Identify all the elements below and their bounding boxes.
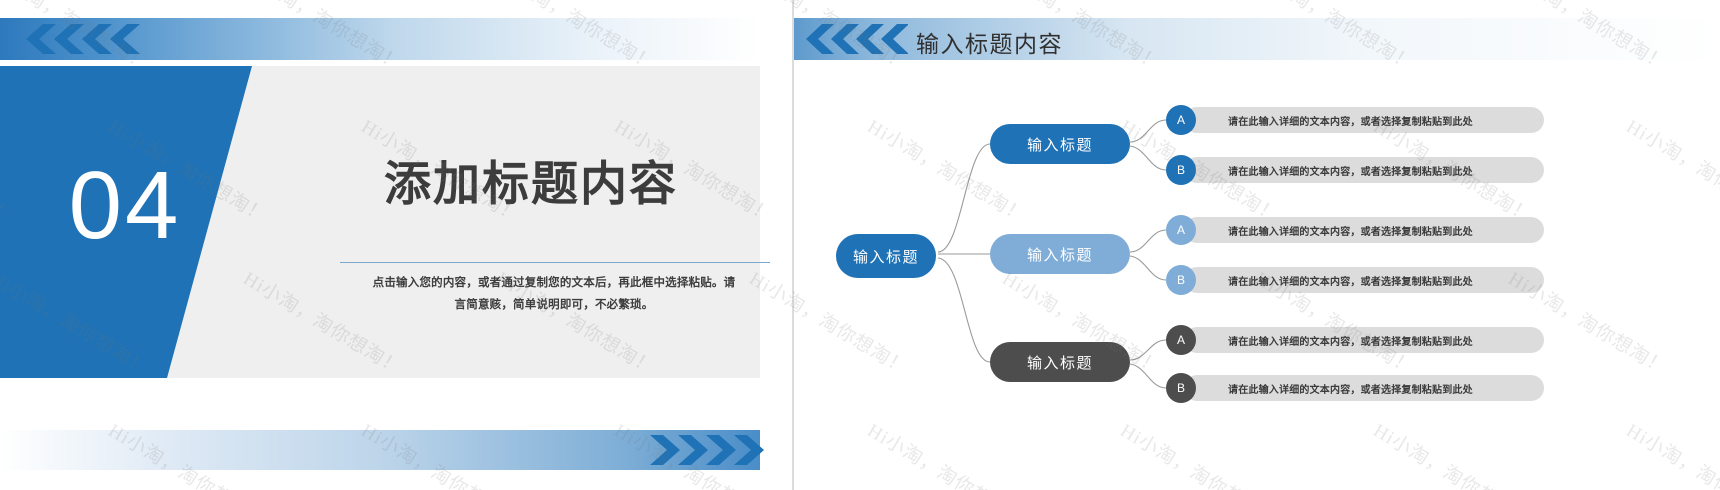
mindmap-branch-node-1[interactable]: 输入标题	[990, 124, 1130, 164]
item-text: 请在此输入详细的文本内容，或者选择复制粘贴到此处	[1228, 163, 1473, 178]
item-pill: 请在此输入详细的文本内容，或者选择复制粘贴到此处	[1184, 267, 1544, 293]
item-text: 请在此输入详细的文本内容，或者选择复制粘贴到此处	[1228, 223, 1473, 238]
mindmap-branch-label: 输入标题	[1027, 244, 1093, 265]
section-number: 04	[22, 158, 228, 254]
item-pill: 请在此输入详细的文本内容，或者选择复制粘贴到此处	[1184, 217, 1544, 243]
mindmap-root-node[interactable]: 输入标题	[836, 234, 936, 278]
item-badge: B	[1166, 373, 1196, 403]
item-pill: 请在此输入详细的文本内容，或者选择复制粘贴到此处	[1184, 107, 1544, 133]
item-badge: B	[1166, 265, 1196, 295]
mindmap-canvas: 输入标题 输入标题 输入标题 输入标题 请在此输入详细的文本内容，或者选择复制粘…	[794, 62, 1720, 490]
item-text: 请在此输入详细的文本内容，或者选择复制粘贴到此处	[1228, 381, 1473, 396]
presentation-slides-preview: 04 添加标题内容 点击输入您的内容，或者通过复制您的文本后，再此框中选择粘贴。…	[0, 0, 1720, 490]
item-text: 请在此输入详细的文本内容，或者选择复制粘贴到此处	[1228, 273, 1473, 288]
slide-mindmap: 输入标题内容	[794, 0, 1720, 490]
page-title: 添加标题内容	[296, 158, 766, 210]
description-line-2: 言简意赅，简单说明即可，不必繁琐。	[328, 294, 780, 316]
item-pill: 请在此输入详细的文本内容，或者选择复制粘贴到此处	[1184, 327, 1544, 353]
description-line-1: 点击输入您的内容，或者通过复制您的文本后，再此框中选择粘贴。请	[328, 272, 780, 294]
mindmap-branch-node-2[interactable]: 输入标题	[990, 234, 1130, 274]
chevron-left-quad-icon	[806, 24, 908, 54]
mindmap-branch-label: 输入标题	[1027, 134, 1093, 155]
chevron-right-quad-icon	[650, 435, 764, 465]
item-badge: A	[1166, 325, 1196, 355]
slide-divider	[792, 0, 794, 490]
title-divider-rule	[340, 262, 770, 263]
item-badge: B	[1166, 155, 1196, 185]
bottom-gradient-bar	[0, 430, 760, 470]
mindmap-branch-label: 输入标题	[1027, 352, 1093, 373]
slide-header-title: 输入标题内容	[916, 25, 1063, 59]
item-pill: 请在此输入详细的文本内容，或者选择复制粘贴到此处	[1184, 375, 1544, 401]
item-text: 请在此输入详细的文本内容，或者选择复制粘贴到此处	[1228, 113, 1473, 128]
chevron-left-quad-icon	[26, 24, 146, 54]
mindmap-root-label: 输入标题	[853, 246, 919, 267]
section-description: 点击输入您的内容，或者通过复制您的文本后，再此框中选择粘贴。请 言简意赅，简单说…	[328, 272, 780, 317]
item-pill: 请在此输入详细的文本内容，或者选择复制粘贴到此处	[1184, 157, 1544, 183]
item-text: 请在此输入详细的文本内容，或者选择复制粘贴到此处	[1228, 333, 1473, 348]
mindmap-branch-node-3[interactable]: 输入标题	[990, 342, 1130, 382]
item-badge: A	[1166, 215, 1196, 245]
slide-section-divider: 04 添加标题内容 点击输入您的内容，或者通过复制您的文本后，再此框中选择粘贴。…	[0, 0, 788, 490]
item-badge: A	[1166, 105, 1196, 135]
